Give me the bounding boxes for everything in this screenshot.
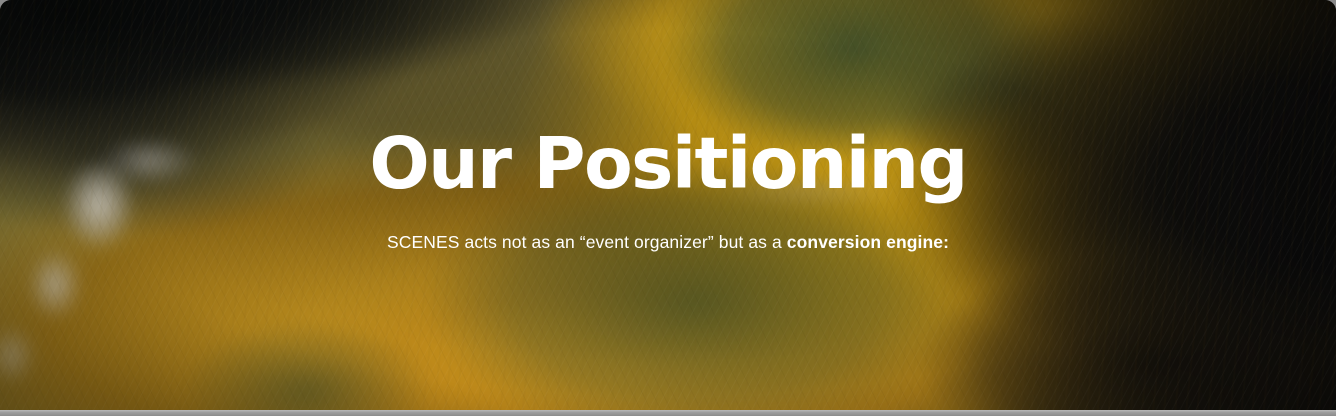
hero-subtitle-emphasis: conversion engine:: [787, 232, 949, 252]
hero-content: Our Positioning SCENES acts not as an “e…: [0, 0, 1336, 410]
hero-subtitle: SCENES acts not as an “event organizer” …: [387, 200, 949, 255]
hero-subtitle-lead: SCENES acts not as an “event organizer” …: [387, 232, 787, 252]
page-title: Our Positioning: [369, 128, 966, 200]
hero-banner: Our Positioning SCENES acts not as an “e…: [0, 0, 1336, 410]
page-bottom-strip: [0, 410, 1336, 416]
